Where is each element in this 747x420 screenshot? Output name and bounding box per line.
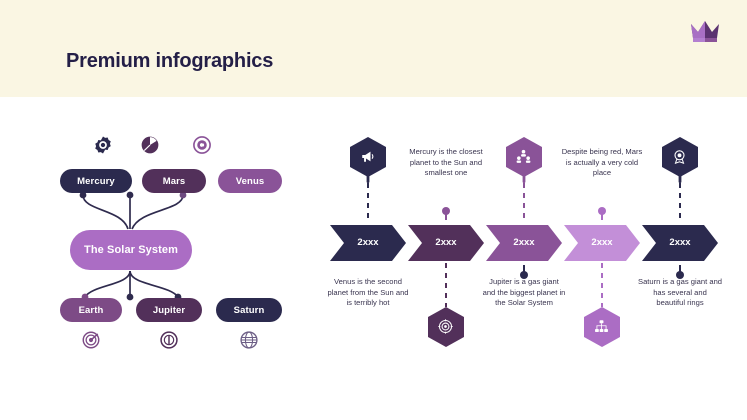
timeline-step-label-4: 2xxx [578,237,626,248]
tree-node-label: Jupiter [153,305,185,316]
gear-icon [94,136,112,154]
tree-node-mars[interactable]: Mars [142,169,206,193]
tree-node-saturn[interactable]: Saturn [216,298,282,322]
globe-icon [240,331,258,349]
badge-icon [672,149,687,164]
crown-icon [688,18,722,44]
timeline-text-venus: Venus is the second planet from the Sun … [326,277,410,309]
target-icon [438,319,453,334]
pie-chart-icon [141,136,159,154]
org-chart-icon [594,319,609,334]
tree-node-venus[interactable]: Venus [218,169,282,193]
tree-node-label: Venus [236,176,265,187]
tree-node-earth[interactable]: Earth [60,298,122,322]
coin-icon [160,331,178,349]
timeline-step-label-2: 2xxx [422,237,470,248]
timeline-text-saturn: Saturn is a gas giant and has several an… [638,277,722,309]
timeline-infographic: 2xxx 2xxx 2xxx 2xxx 2xxx Mercury is the … [330,125,720,365]
tree-node-label: Mars [163,176,186,187]
tree-node-center[interactable]: The Solar System [70,230,192,270]
radar-icon [82,331,100,349]
timeline-text-mars: Despite being red, Mars is actually a ve… [560,147,644,179]
slide-canvas: Premium infographics [0,0,747,420]
tree-node-label: Saturn [234,305,265,316]
tree-center-label: The Solar System [84,244,178,256]
target-ring-icon [193,136,211,154]
tree-node-label: Earth [79,305,104,316]
timeline-step-label-3: 2xxx [500,237,548,248]
tree-node-label: Mercury [77,176,115,187]
page-title: Premium infographics [66,50,273,73]
solar-system-tree: Mercury Mars Venus The Solar System Eart… [60,125,330,365]
slide-header: Premium infographics [0,0,747,97]
people-group-icon [516,149,531,164]
timeline-text-jupiter: Jupiter is a gas giant and the biggest p… [482,277,566,309]
megaphone-icon [360,149,375,164]
timeline-text-mercury: Mercury is the closest planet to the Sun… [404,147,488,179]
timeline-step-label-1: 2xxx [344,237,392,248]
timeline-step-label-5: 2xxx [656,237,704,248]
tree-node-mercury[interactable]: Mercury [60,169,132,193]
tree-node-jupiter[interactable]: Jupiter [136,298,202,322]
